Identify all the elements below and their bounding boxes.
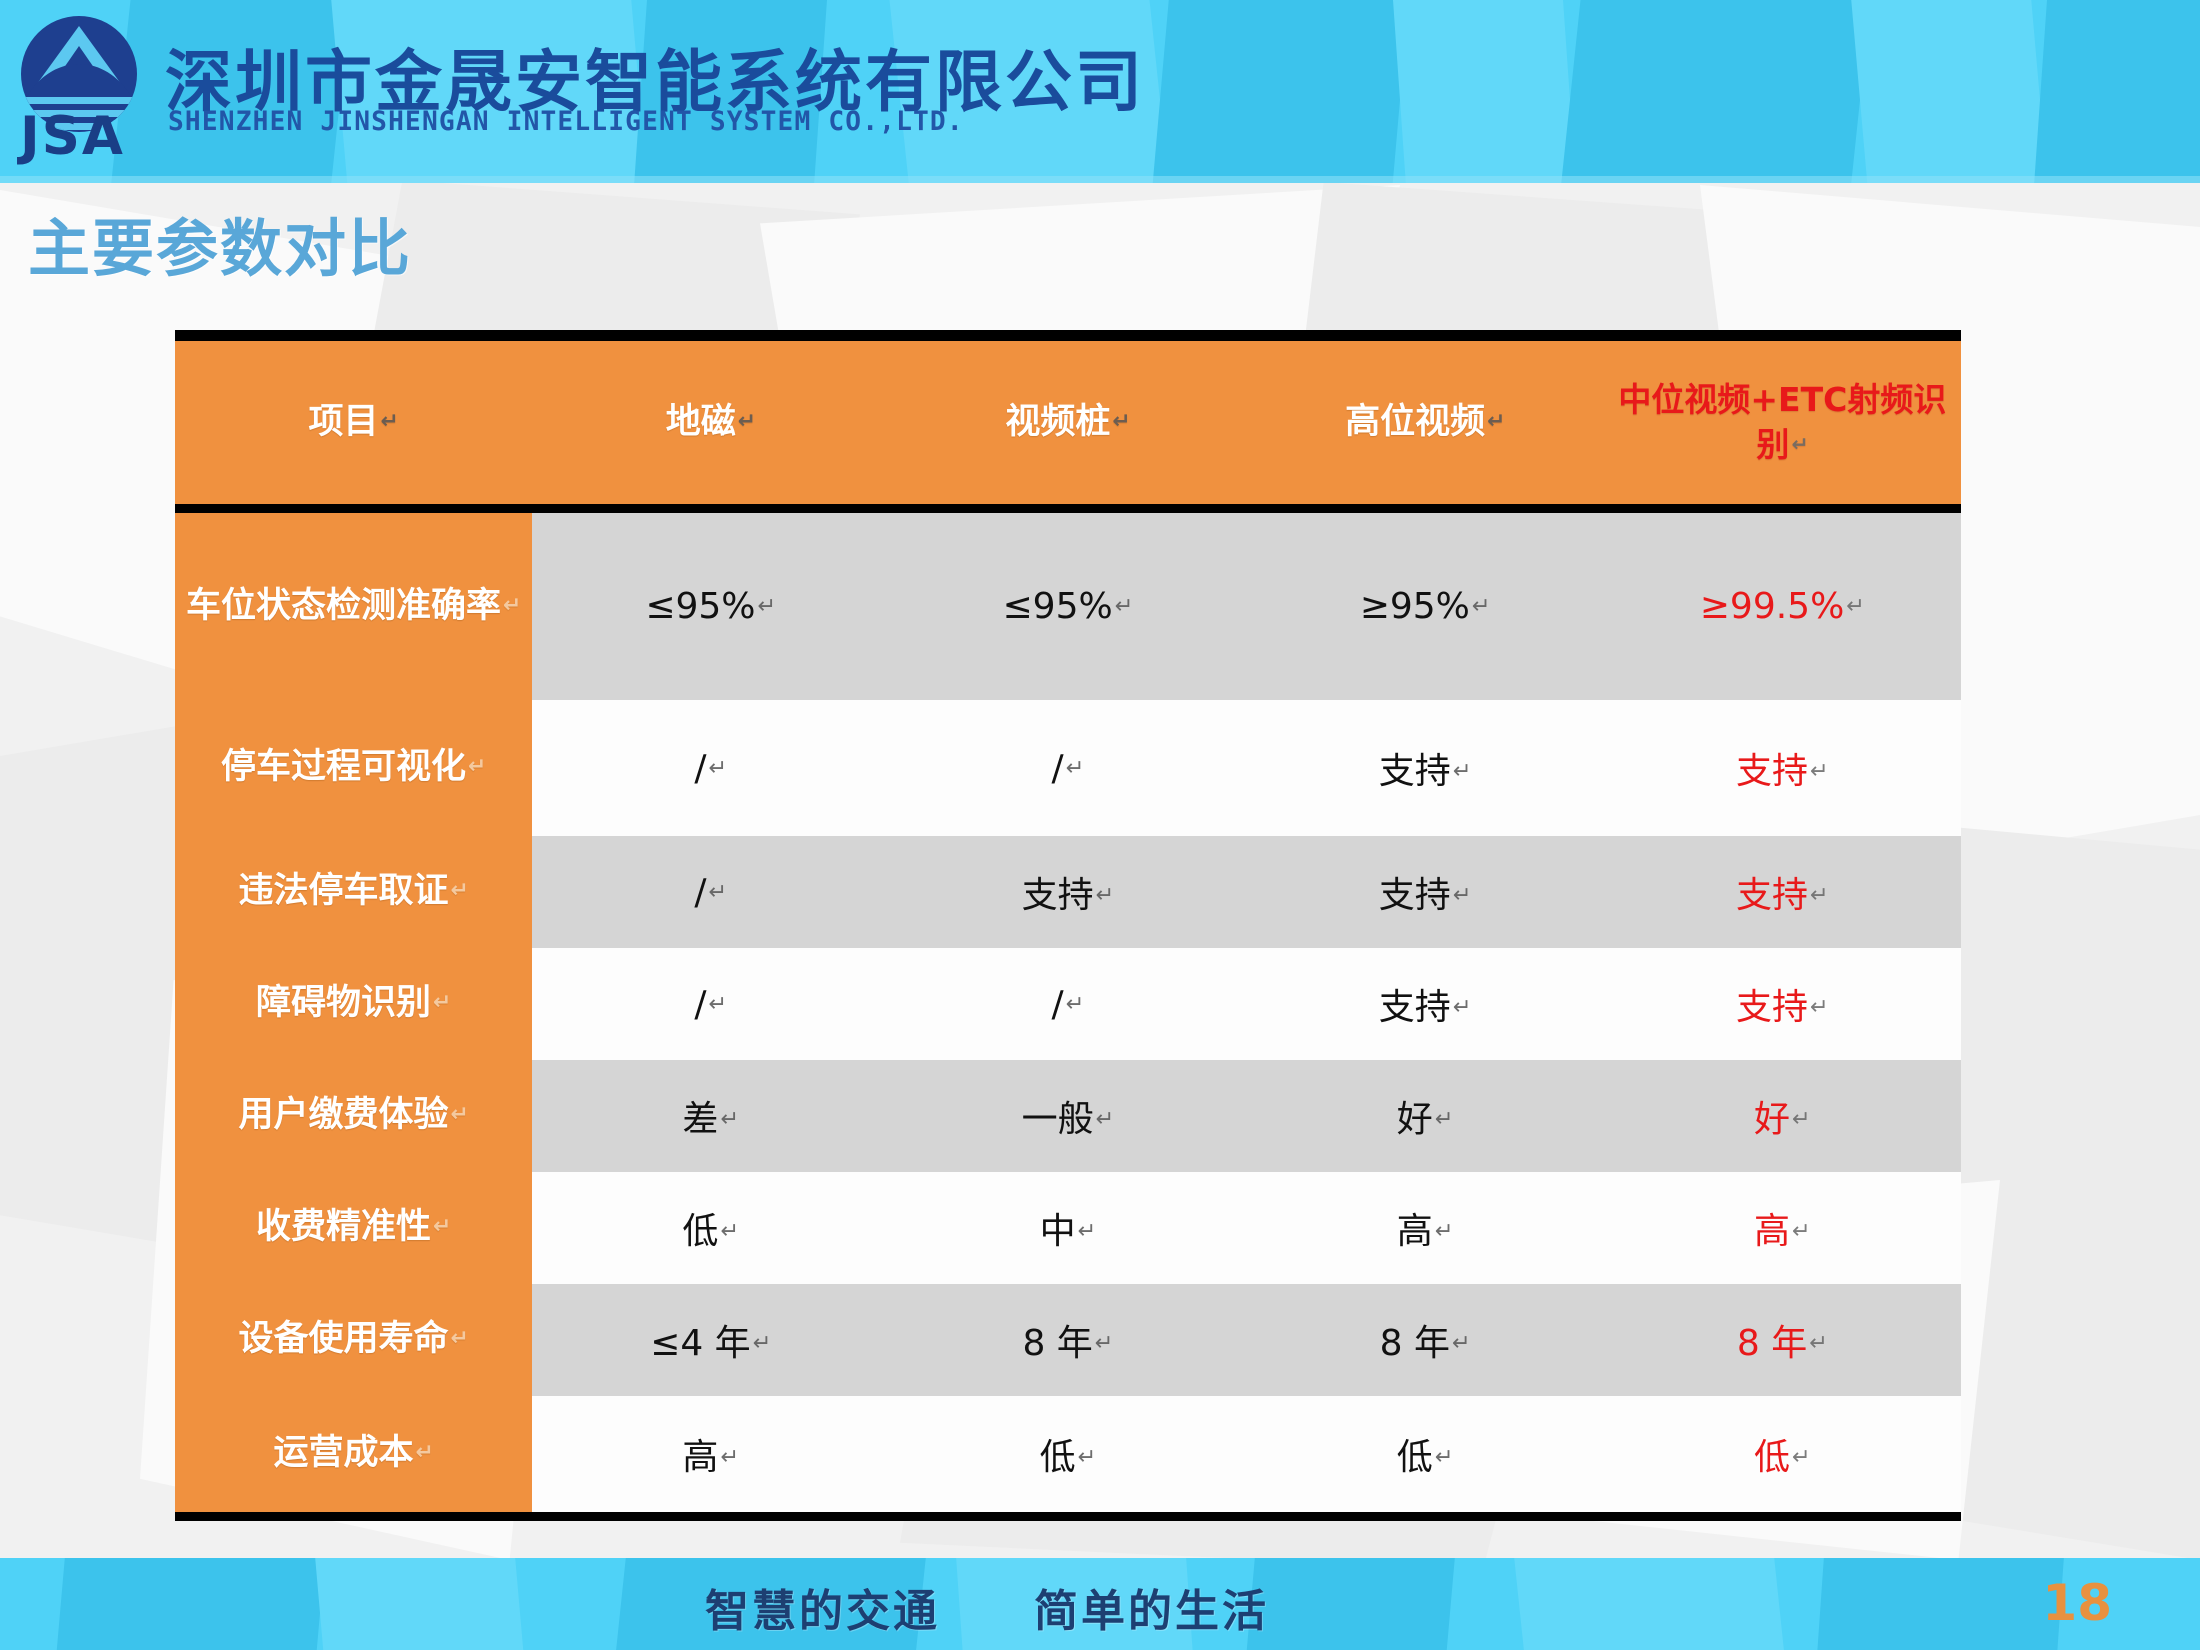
cell-value: 中 xyxy=(1040,1211,1076,1252)
table-row: 运营成本↵ 高↵ 低↵ 低↵ 低↵ xyxy=(175,1396,1961,1512)
paragraph-mark-icon: ↵ xyxy=(1115,593,1134,619)
paragraph-mark-icon: ↵ xyxy=(738,409,756,434)
table-row: 设备使用寿命↵ ≤4 年↵ 8 年↵ 8 年↵ 8 年↵ xyxy=(175,1284,1961,1396)
cell-value: 低 xyxy=(1397,1437,1433,1478)
row-label-text: 停车过程可视化 xyxy=(221,747,466,787)
rule xyxy=(175,330,1961,341)
table-cell: /↵ xyxy=(532,836,889,948)
table-cell: 中↵ xyxy=(889,1172,1246,1284)
table-cell: 低↵ xyxy=(532,1172,889,1284)
row-label: 收费精准性↵ xyxy=(175,1172,532,1284)
paragraph-mark-icon: ↵ xyxy=(1792,1444,1811,1470)
paragraph-mark-icon: ↵ xyxy=(1453,882,1472,908)
cell-value: 高 xyxy=(682,1437,718,1478)
paragraph-mark-icon: ↵ xyxy=(1487,409,1505,434)
paragraph-mark-icon: ↵ xyxy=(1095,1330,1114,1356)
cell-value: 支持 xyxy=(1379,875,1451,916)
paragraph-mark-icon: ↵ xyxy=(1112,409,1130,434)
logo-wordmark: JSA xyxy=(20,106,125,167)
cell-value: ≥95% xyxy=(1360,586,1470,627)
cell-value: / xyxy=(694,872,706,913)
cell-value: 支持 xyxy=(1379,987,1451,1028)
paragraph-mark-icon: ↵ xyxy=(758,593,777,619)
header-banner: JSA 深圳市金晟安智能系统有限公司 SHENZHEN JINSHENGAN I… xyxy=(0,0,2200,183)
footer-banner: 智慧的交通 简单的生活 18 xyxy=(0,1558,2200,1650)
column-header-high-video: 高位视频↵ xyxy=(1247,341,1604,504)
paragraph-mark-icon: ↵ xyxy=(1792,1106,1811,1132)
cell-value: 一般 xyxy=(1022,1099,1094,1140)
paragraph-mark-icon: ↵ xyxy=(1453,758,1472,784)
paragraph-mark-icon: ↵ xyxy=(1435,1444,1454,1470)
column-header-label: 视频桩 xyxy=(1005,402,1110,442)
table-cell: 支持↵ xyxy=(889,836,1246,948)
cell-value: 支持 xyxy=(1736,987,1808,1028)
page-number: 18 xyxy=(2042,1574,2112,1632)
cell-value: 差 xyxy=(682,1099,718,1140)
footer-slogan: 智慧的交通 简单的生活 xyxy=(705,1575,1269,1639)
cell-value: 8 年 xyxy=(1380,1323,1450,1364)
presentation-slide: JSA 深圳市金晟安智能系统有限公司 SHENZHEN JINSHENGAN I… xyxy=(0,0,2200,1650)
paragraph-mark-icon: ↵ xyxy=(1096,1106,1115,1132)
paragraph-mark-icon: ↵ xyxy=(753,1330,772,1356)
paragraph-mark-icon: ↵ xyxy=(451,1102,469,1127)
cell-value: 支持 xyxy=(1379,751,1451,792)
row-label-text: 运营成本 xyxy=(274,1433,414,1473)
table-cell-highlight: 支持↵ xyxy=(1604,948,1961,1060)
table-cell: 8 年↵ xyxy=(889,1284,1246,1396)
parameter-comparison-table: 项目↵ 地磁↵ 视频桩↵ 高位视频↵ 中位视频+ETC射频识别↵ 车位状态检测准… xyxy=(175,330,1961,1521)
cell-value: / xyxy=(1052,748,1064,789)
company-name-en: SHENZHEN JINSHENGAN INTELLIGENT SYSTEM C… xyxy=(168,106,964,137)
cell-value: ≤4 年 xyxy=(650,1323,751,1364)
table-cell: /↵ xyxy=(889,948,1246,1060)
row-label: 车位状态检测准确率↵ xyxy=(175,513,532,700)
table-cell: 支持↵ xyxy=(1247,948,1604,1060)
paragraph-mark-icon: ↵ xyxy=(468,754,486,779)
table-cell: ≤4 年↵ xyxy=(532,1284,889,1396)
column-header-mid-video-etc: 中位视频+ETC射频识别↵ xyxy=(1604,341,1961,504)
row-label: 设备使用寿命↵ xyxy=(175,1284,532,1396)
table-cell: /↵ xyxy=(532,700,889,836)
cell-value: 高 xyxy=(1397,1211,1433,1252)
paragraph-mark-icon: ↵ xyxy=(1809,1330,1828,1356)
table-cell: 差↵ xyxy=(532,1060,889,1172)
cell-value: / xyxy=(694,984,706,1025)
column-header-video-post: 视频桩↵ xyxy=(889,341,1246,504)
paragraph-mark-icon: ↵ xyxy=(416,1440,434,1465)
table-cell: 高↵ xyxy=(532,1396,889,1512)
paragraph-mark-icon: ↵ xyxy=(709,991,728,1017)
paragraph-mark-icon: ↵ xyxy=(1096,882,1115,908)
table-cell-highlight: 好↵ xyxy=(1604,1060,1961,1172)
column-header-label: 高位视频 xyxy=(1345,402,1485,442)
column-header-label: 中位视频+ETC射频识别 xyxy=(1618,380,1946,464)
table-foot xyxy=(175,1512,1961,1521)
paragraph-mark-icon: ↵ xyxy=(381,409,399,434)
cell-value: 8 年 xyxy=(1022,1323,1092,1364)
table-cell-highlight: 高↵ xyxy=(1604,1172,1961,1284)
table-cell: ≤95%↵ xyxy=(889,513,1246,700)
row-label: 运营成本↵ xyxy=(175,1396,532,1512)
paragraph-mark-icon: ↵ xyxy=(1810,994,1829,1020)
row-label-text: 用户缴费体验 xyxy=(239,1095,449,1135)
rule xyxy=(175,504,1961,513)
cell-value: 支持 xyxy=(1736,751,1808,792)
table-cell-highlight: 低↵ xyxy=(1604,1396,1961,1512)
paragraph-mark-icon: ↵ xyxy=(433,990,451,1015)
table-cell: 好↵ xyxy=(1247,1060,1604,1172)
table-cell: 高↵ xyxy=(1247,1172,1604,1284)
table-cell-highlight: 支持↵ xyxy=(1604,700,1961,836)
column-header-label: 地磁 xyxy=(666,402,736,442)
row-label-text: 收费精准性 xyxy=(256,1207,431,1247)
paragraph-mark-icon: ↵ xyxy=(709,879,728,905)
table-head: 项目↵ 地磁↵ 视频桩↵ 高位视频↵ 中位视频+ETC射频识别↵ xyxy=(175,330,1961,513)
paragraph-mark-icon: ↵ xyxy=(1435,1218,1454,1244)
row-label-text: 设备使用寿命 xyxy=(239,1319,449,1359)
paragraph-mark-icon: ↵ xyxy=(720,1444,739,1470)
table-cell: 8 年↵ xyxy=(1247,1284,1604,1396)
table-cell: 低↵ xyxy=(1247,1396,1604,1512)
table-cell: 一般↵ xyxy=(889,1060,1246,1172)
paragraph-mark-icon: ↵ xyxy=(1792,1218,1811,1244)
row-label: 违法停车取证↵ xyxy=(175,836,532,948)
table-header-rule xyxy=(175,504,1961,513)
table-cell-highlight: 8 年↵ xyxy=(1604,1284,1961,1396)
paragraph-mark-icon: ↵ xyxy=(1066,991,1085,1017)
paragraph-mark-icon: ↵ xyxy=(1078,1218,1097,1244)
paragraph-mark-icon: ↵ xyxy=(709,755,728,781)
cell-value: 8 年 xyxy=(1737,1323,1807,1364)
cell-value: 支持 xyxy=(1736,875,1808,916)
column-header-label: 项目 xyxy=(309,402,379,442)
table-body: 车位状态检测准确率↵ ≤95%↵ ≤95%↵ ≥95%↵ ≥99.5%↵ 停车过… xyxy=(175,513,1961,1512)
paragraph-mark-icon: ↵ xyxy=(1846,593,1865,619)
table-row: 违法停车取证↵ /↵ 支持↵ 支持↵ 支持↵ xyxy=(175,836,1961,948)
comparison-table-container: 项目↵ 地磁↵ 视频桩↵ 高位视频↵ 中位视频+ETC射频识别↵ 车位状态检测准… xyxy=(175,330,1961,1521)
paragraph-mark-icon: ↵ xyxy=(1810,758,1829,784)
cell-value: 支持 xyxy=(1022,875,1094,916)
paragraph-mark-icon: ↵ xyxy=(1472,593,1491,619)
table-cell: /↵ xyxy=(532,948,889,1060)
table-row: 收费精准性↵ 低↵ 中↵ 高↵ 高↵ xyxy=(175,1172,1961,1284)
page-title: 主要参数对比 xyxy=(28,198,412,288)
paragraph-mark-icon: ↵ xyxy=(451,1326,469,1351)
table-cell: 支持↵ xyxy=(1247,700,1604,836)
paragraph-mark-icon: ↵ xyxy=(1452,1330,1471,1356)
table-cell: /↵ xyxy=(889,700,1246,836)
paragraph-mark-icon: ↵ xyxy=(1791,432,1808,456)
paragraph-mark-icon: ↵ xyxy=(1810,882,1829,908)
cell-value: / xyxy=(1052,984,1064,1025)
table-row: 停车过程可视化↵ /↵ /↵ 支持↵ 支持↵ xyxy=(175,700,1961,836)
paragraph-mark-icon: ↵ xyxy=(1066,755,1085,781)
paragraph-mark-icon: ↵ xyxy=(451,878,469,903)
cell-value: 好 xyxy=(1754,1099,1790,1140)
table-cell: ≥95%↵ xyxy=(1247,513,1604,700)
table-cell: ≤95%↵ xyxy=(532,513,889,700)
table-row: 用户缴费体验↵ 差↵ 一般↵ 好↵ 好↵ xyxy=(175,1060,1961,1172)
rule xyxy=(175,1512,1961,1521)
cell-value: 好 xyxy=(1397,1099,1433,1140)
table-cell: 支持↵ xyxy=(1247,836,1604,948)
paragraph-mark-icon: ↵ xyxy=(720,1218,739,1244)
paragraph-mark-icon: ↵ xyxy=(433,1214,451,1239)
cell-value: 低 xyxy=(1040,1437,1076,1478)
paragraph-mark-icon: ↵ xyxy=(1453,994,1472,1020)
table-cell-highlight: ≥99.5%↵ xyxy=(1604,513,1961,700)
cell-value: 高 xyxy=(1754,1211,1790,1252)
row-label-text: 违法停车取证 xyxy=(239,871,449,911)
table-header-row: 项目↵ 地磁↵ 视频桩↵ 高位视频↵ 中位视频+ETC射频识别↵ xyxy=(175,341,1961,504)
table-top-rule xyxy=(175,330,1961,341)
table-row: 车位状态检测准确率↵ ≤95%↵ ≤95%↵ ≥95%↵ ≥99.5%↵ xyxy=(175,513,1961,700)
row-label: 用户缴费体验↵ xyxy=(175,1060,532,1172)
row-label: 停车过程可视化↵ xyxy=(175,700,532,836)
row-label-text: 障碍物识别 xyxy=(256,983,431,1023)
table-bottom-rule xyxy=(175,1512,1961,1521)
cell-value: 低 xyxy=(682,1211,718,1252)
paragraph-mark-icon: ↵ xyxy=(720,1106,739,1132)
table-cell-highlight: 支持↵ xyxy=(1604,836,1961,948)
table-cell: 低↵ xyxy=(889,1396,1246,1512)
column-header-geomagnetic: 地磁↵ xyxy=(532,341,889,504)
paragraph-mark-icon: ↵ xyxy=(1435,1106,1454,1132)
column-header-item: 项目↵ xyxy=(175,341,532,504)
paragraph-mark-icon: ↵ xyxy=(1078,1444,1097,1470)
cell-value: ≤95% xyxy=(1003,586,1113,627)
row-label-text: 车位状态检测准确率 xyxy=(186,586,501,626)
table-row: 障碍物识别↵ /↵ /↵ 支持↵ 支持↵ xyxy=(175,948,1961,1060)
row-label: 障碍物识别↵ xyxy=(175,948,532,1060)
paragraph-mark-icon: ↵ xyxy=(503,593,521,618)
cell-value: ≥99.5% xyxy=(1700,586,1845,627)
cell-value: 低 xyxy=(1754,1437,1790,1478)
cell-value: ≤95% xyxy=(645,586,755,627)
cell-value: / xyxy=(694,748,706,789)
